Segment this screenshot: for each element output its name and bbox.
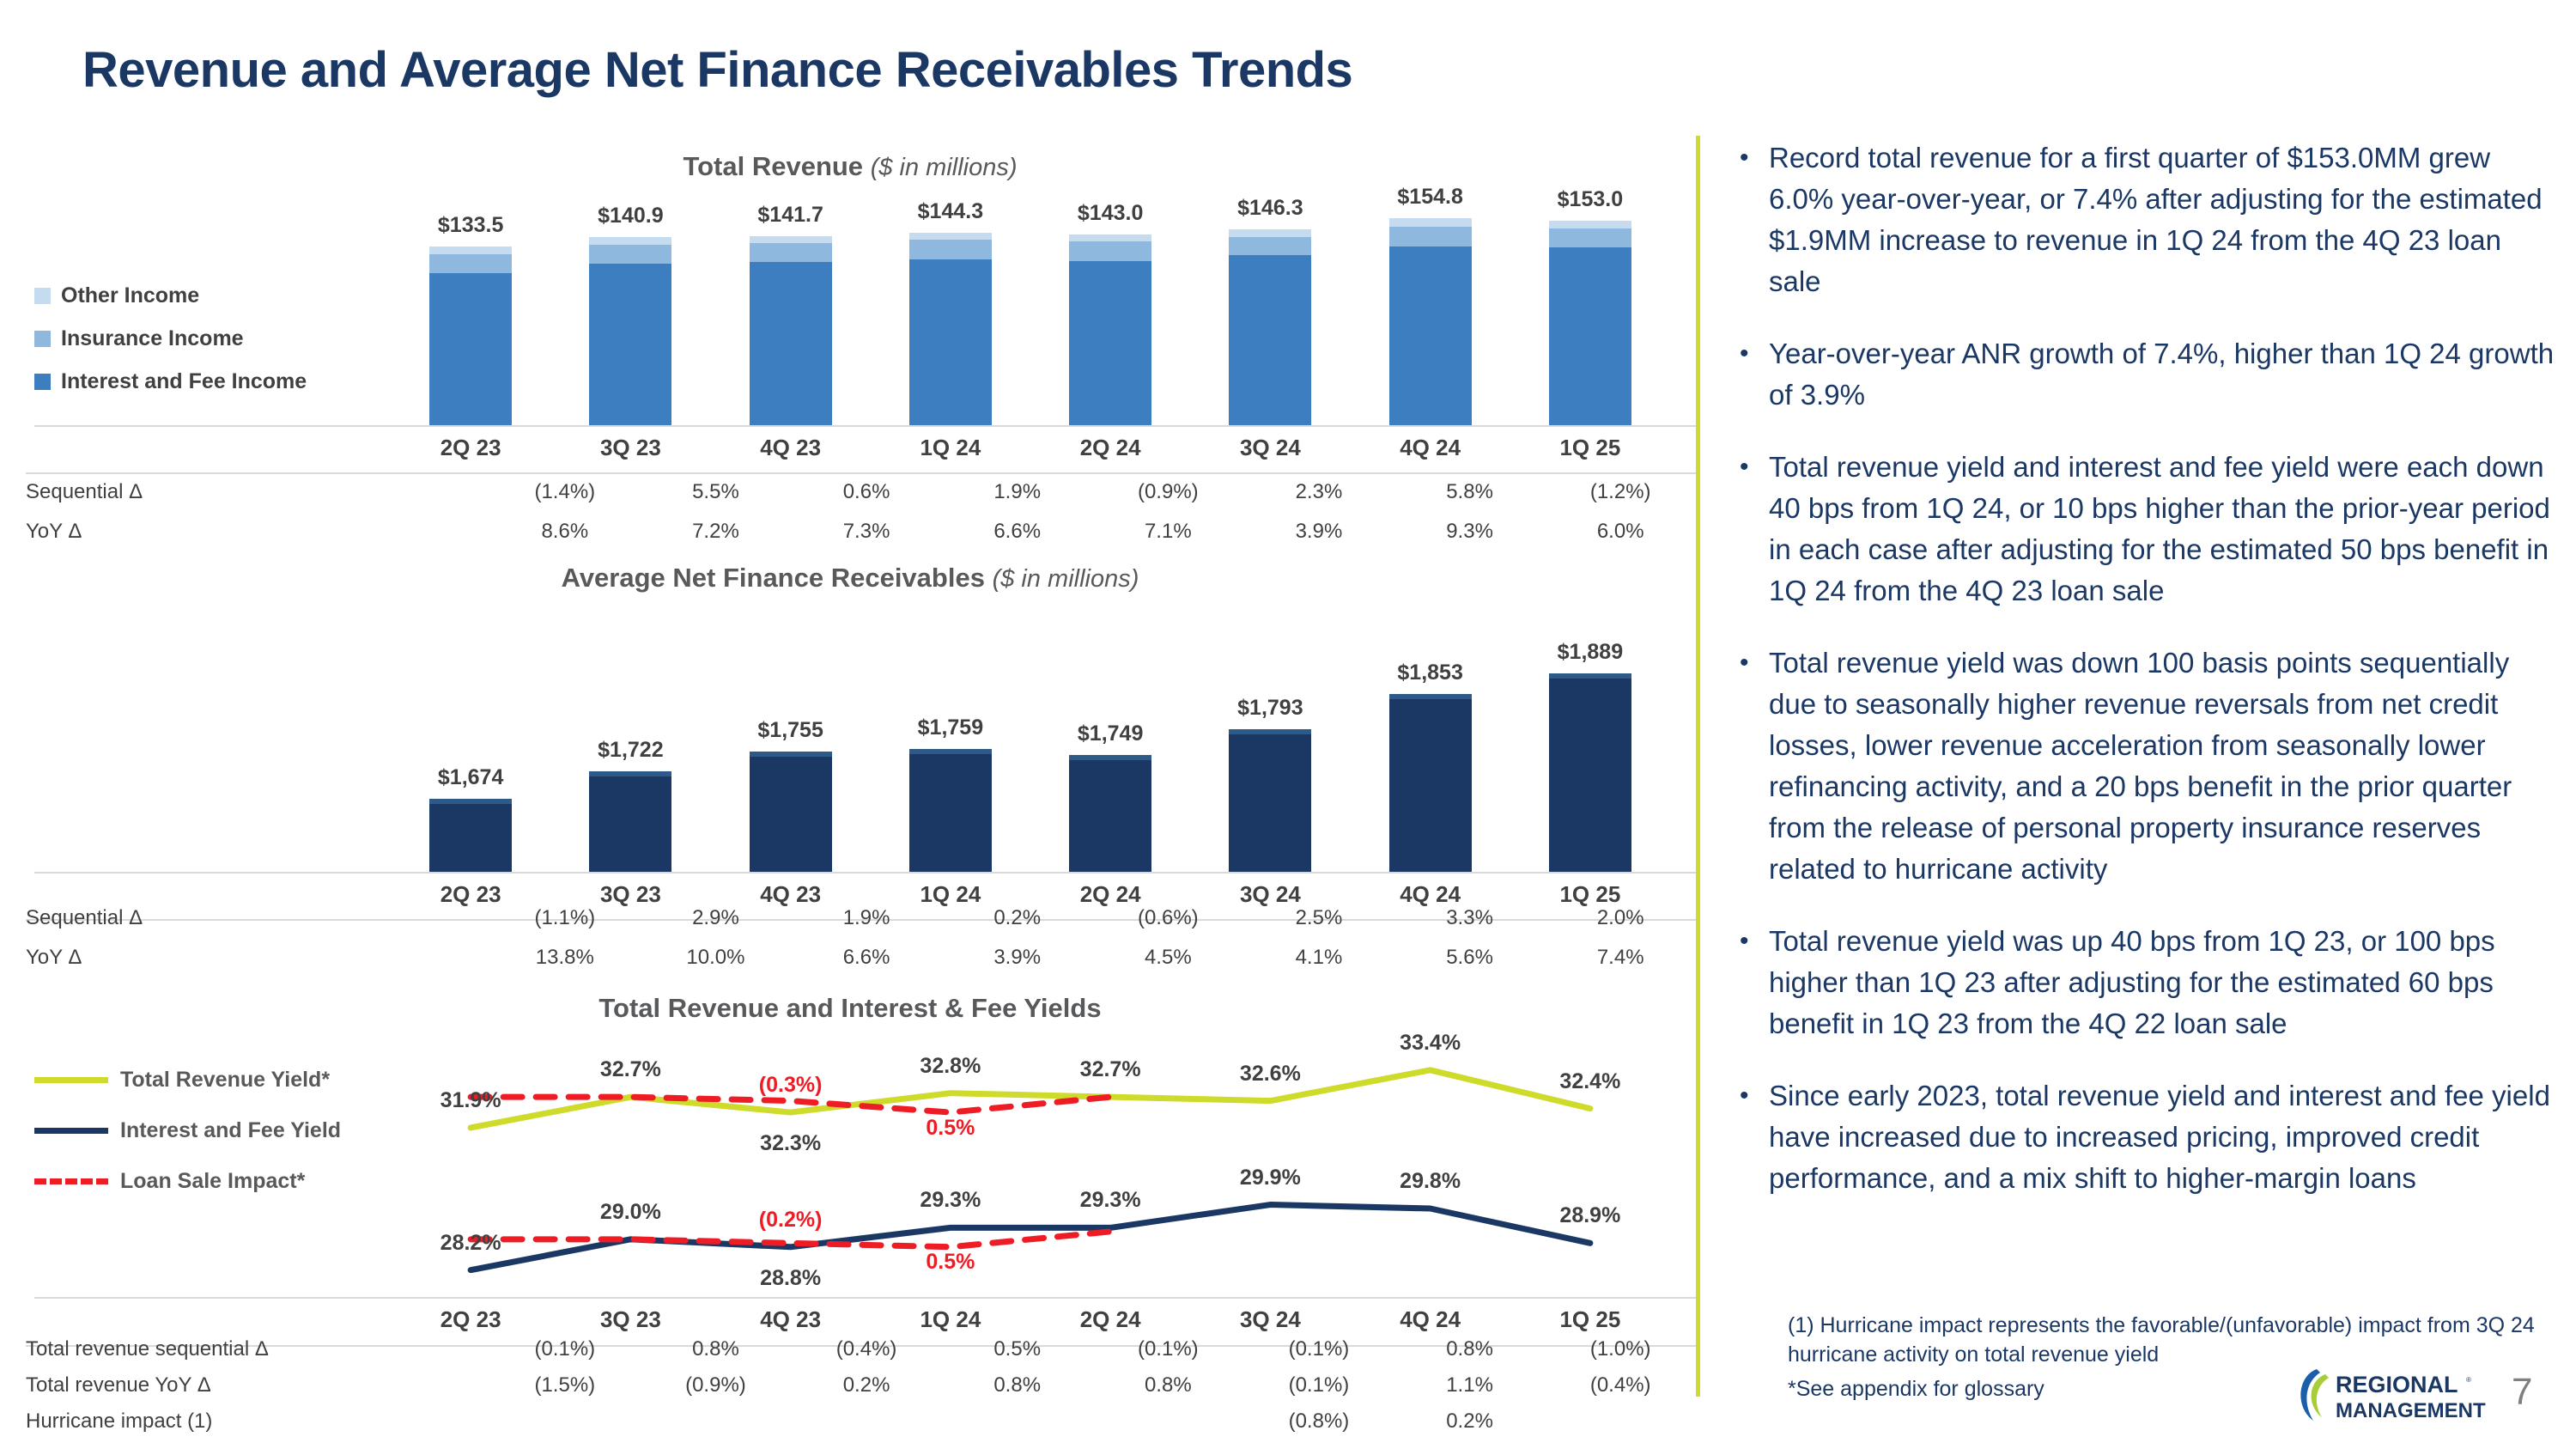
- table-cell: (0.6%): [1093, 906, 1244, 930]
- row-cells-sequential-delta-2: (1.1%)2.9%1.9%0.2%(0.6%)2.5%3.3%2.0%: [489, 906, 1696, 930]
- chart1-seq-row: Sequential Δ (1.4%)5.5%0.6%1.9%(0.9%)2.3…: [26, 474, 1696, 510]
- table-cell: 7.2%: [641, 520, 792, 544]
- stacked-bar: [1069, 234, 1151, 425]
- charts-column: Total Revenue ($ in millions) Other Inco…: [0, 0, 1696, 1449]
- segment-interest-fee-income: [589, 264, 671, 425]
- bar-column: $146.3: [1190, 185, 1350, 425]
- bar-body: [429, 804, 512, 872]
- table-cell: 3.3%: [1394, 906, 1546, 930]
- bullet-dot-icon: •: [1735, 447, 1769, 612]
- segment-other-income: [589, 237, 671, 245]
- svg-text:®: ®: [2466, 1376, 2471, 1384]
- bar-column: $1,889: [1510, 631, 1670, 872]
- commentary-list: •Record total revenue for a first quarte…: [1735, 137, 2559, 1230]
- bar-value-label: $153.0: [1504, 187, 1676, 212]
- legend-label-interest-fee-income: Interest and Fee Income: [61, 369, 307, 394]
- chart1-title-sub: ($ in millions): [871, 154, 1018, 181]
- table-cell: 0.8%: [942, 1373, 1093, 1397]
- category-label: 2Q 23: [391, 1306, 550, 1333]
- row-cells-sequential-delta: (1.4%)5.5%0.6%1.9%(0.9%)2.3%5.8%(1.2%): [489, 480, 1696, 504]
- segment-interest-fee-income: [750, 262, 832, 425]
- legend-label-insurance-income: Insurance Income: [61, 326, 244, 351]
- table-cell: (0.1%): [1093, 1337, 1244, 1361]
- table-cell: (0.1%): [1243, 1373, 1394, 1397]
- row-label-sequential-delta-2: Sequential Δ: [26, 906, 489, 930]
- point-value-label: 31.9%: [440, 1088, 501, 1113]
- bar: [750, 752, 832, 872]
- row-label-total-revenue-yoy: Total revenue YoY Δ: [26, 1373, 489, 1397]
- bar: [429, 799, 512, 872]
- legend-label-loan-sale-impact: Loan Sale Impact*: [120, 1169, 305, 1194]
- bar: [1549, 673, 1631, 873]
- stacked-bar: [1229, 229, 1311, 425]
- category-label: 3Q 23: [550, 435, 710, 461]
- table-cell: 8.6%: [489, 520, 641, 544]
- bar: [1389, 694, 1472, 872]
- chart2-bars: $1,674$1,722$1,755$1,759$1,749$1,793$1,8…: [391, 631, 1670, 872]
- row-label-sequential-delta: Sequential Δ: [26, 480, 489, 504]
- bar-value-label: $144.3: [865, 199, 1036, 224]
- segment-other-income: [1069, 234, 1151, 242]
- table-cell: 4.1%: [1243, 946, 1394, 970]
- chart3-categories: 2Q 233Q 234Q 231Q 242Q 243Q 244Q 241Q 25: [391, 1306, 1670, 1333]
- row-cells-yoy-delta: 8.6%7.2%7.3%6.6%7.1%3.9%9.3%6.0%: [489, 520, 1696, 544]
- bar-value-label: $1,722: [544, 738, 716, 763]
- category-label: 2Q 23: [391, 435, 550, 461]
- stacked-bar: [909, 233, 992, 425]
- point-value-label: 32.7%: [1080, 1057, 1141, 1082]
- table-cell: (0.1%): [489, 1337, 641, 1361]
- table-cell: 1.9%: [791, 906, 942, 930]
- table-cell: 5.8%: [1394, 480, 1546, 504]
- table-cell: 7.1%: [1093, 520, 1244, 544]
- legend-swatch-other-income-icon: [34, 288, 51, 304]
- stacked-bar: [429, 247, 512, 425]
- table-cell: (1.0%): [1545, 1337, 1696, 1361]
- bar-column: $154.8: [1351, 185, 1510, 425]
- legend-label-interest-fee-yield: Interest and Fee Yield: [120, 1118, 341, 1143]
- bar-value-label: $143.0: [1024, 201, 1196, 226]
- segment-other-income: [1229, 229, 1311, 236]
- chart3-title: Total Revenue and Interest & Fee Yields: [34, 993, 1666, 1024]
- point-value-label: 29.9%: [1240, 1166, 1301, 1190]
- segment-insurance-income: [1389, 227, 1472, 247]
- point-value-label: 32.7%: [600, 1057, 661, 1082]
- table-cell: 2.9%: [641, 906, 792, 930]
- bar-column: $1,853: [1351, 631, 1510, 872]
- point-value-label: 28.2%: [440, 1231, 501, 1256]
- table-cell: 13.8%: [489, 946, 641, 970]
- table-cell: [942, 1409, 1093, 1434]
- table-cell: (1.4%): [489, 480, 641, 504]
- bar-value-label: $1,889: [1504, 640, 1676, 665]
- category-label: 1Q 25: [1510, 1306, 1670, 1333]
- category-label: 1Q 25: [1510, 435, 1670, 461]
- bar-column: $141.7: [711, 185, 871, 425]
- commentary-bullet: •Total revenue yield was up 40 bps from …: [1735, 921, 2559, 1044]
- legend-label-total-revenue-yield: Total Revenue Yield*: [120, 1068, 330, 1093]
- row-label-hurricane-impact: Hurricane impact (1): [26, 1409, 489, 1434]
- segment-interest-fee-income: [909, 259, 992, 425]
- legend-line-total-revenue-yield-icon: [34, 1077, 108, 1083]
- row-cells-yoy-delta-2: 13.8%10.0%6.6%3.9%4.5%4.1%5.6%7.4%: [489, 946, 1696, 970]
- commentary-bullet: •Total revenue yield and interest and fe…: [1735, 447, 2559, 612]
- chart3-yoy-row: Total revenue YoY Δ (1.5%)(0.9%)0.2%0.8%…: [26, 1367, 1696, 1403]
- point-value-label: 32.6%: [1240, 1062, 1301, 1087]
- segment-interest-fee-income: [1229, 255, 1311, 425]
- bullet-dot-icon: •: [1735, 137, 1769, 302]
- bar-column: $140.9: [550, 185, 710, 425]
- bar-body: [1549, 679, 1631, 873]
- table-cell: (0.9%): [1093, 480, 1244, 504]
- stacked-bar: [750, 236, 832, 425]
- category-label: 3Q 24: [1190, 435, 1350, 461]
- table-cell: (0.4%): [791, 1337, 942, 1361]
- category-label: 4Q 24: [1351, 435, 1510, 461]
- category-label: 2Q 24: [1030, 435, 1190, 461]
- commentary-bullet: •Record total revenue for a first quarte…: [1735, 137, 2559, 302]
- stacked-bar: [1389, 218, 1472, 425]
- legend-line-interest-fee-yield-icon: [34, 1128, 108, 1134]
- table-cell: [489, 1409, 641, 1434]
- bullet-text: Total revenue yield was down 100 basis p…: [1769, 642, 2559, 890]
- bullet-text: Since early 2023, total revenue yield an…: [1769, 1075, 2559, 1199]
- bar-value-label: $1,793: [1184, 696, 1356, 721]
- bar-value-label: $141.7: [705, 203, 877, 228]
- segment-interest-fee-income: [429, 273, 512, 425]
- category-label: 4Q 23: [711, 435, 871, 461]
- bar-value-label: $1,759: [865, 715, 1036, 740]
- segment-other-income: [1389, 218, 1472, 227]
- bar-body: [1069, 760, 1151, 872]
- table-cell: [641, 1409, 792, 1434]
- bar: [1069, 755, 1151, 872]
- legend-swatch-interest-fee-income-icon: [34, 374, 51, 390]
- bar-column: $153.0: [1510, 185, 1670, 425]
- bar-body: [589, 776, 671, 872]
- table-cell: (0.9%): [641, 1373, 792, 1397]
- table-cell: 3.9%: [942, 946, 1093, 970]
- chart3-seq-row: Total revenue sequential Δ (0.1%)0.8%(0.…: [26, 1331, 1696, 1367]
- category-label: 2Q 24: [1030, 1306, 1190, 1333]
- legend-line-loan-sale-impact-icon: [34, 1178, 108, 1184]
- table-cell: 0.2%: [791, 1373, 942, 1397]
- table-cell: (1.1%): [489, 906, 641, 930]
- table-cell: 0.2%: [1394, 1409, 1546, 1434]
- legend-item-interest-fee-yield: Interest and Fee Yield: [34, 1118, 341, 1143]
- bar-body: [1389, 699, 1472, 872]
- regional-management-logo-icon: REGIONAL ® MANAGEMENT: [2291, 1364, 2488, 1428]
- category-label: 4Q 24: [1351, 1306, 1510, 1333]
- table-cell: 7.4%: [1545, 946, 1696, 970]
- segment-other-income: [1549, 221, 1631, 228]
- bar-column: $1,674: [391, 631, 550, 872]
- bar-body: [909, 754, 992, 872]
- bullet-text: Record total revenue for a first quarter…: [1769, 137, 2559, 302]
- chart2-title-sub: ($ in millions): [993, 565, 1139, 593]
- bullet-dot-icon: •: [1735, 642, 1769, 890]
- table-cell: (1.2%): [1545, 480, 1696, 504]
- legend-item-total-revenue-yield: Total Revenue Yield*: [34, 1068, 341, 1093]
- table-cell: 2.5%: [1243, 906, 1394, 930]
- loan-sale-annotation: (0.2%): [759, 1208, 823, 1233]
- table-cell: 6.6%: [942, 520, 1093, 544]
- segment-insurance-income: [429, 254, 512, 273]
- bar-column: $133.5: [391, 185, 550, 425]
- page-number: 7: [2512, 1371, 2532, 1414]
- segment-insurance-income: [1229, 237, 1311, 255]
- table-cell: 10.0%: [641, 946, 792, 970]
- point-value-label: 29.8%: [1400, 1169, 1461, 1194]
- bullet-dot-icon: •: [1735, 921, 1769, 1044]
- chart2-title: Average Net Finance Receivables ($ in mi…: [34, 563, 1666, 594]
- point-value-label: 28.8%: [760, 1266, 821, 1291]
- point-value-label: 29.3%: [1080, 1188, 1141, 1213]
- slide: Revenue and Average Net Finance Receivab…: [0, 0, 2576, 1449]
- loan-sale-annotation: (0.3%): [759, 1073, 823, 1098]
- chart2-yoy-row: YoY Δ 13.8%10.0%6.6%3.9%4.5%4.1%5.6%7.4%: [26, 940, 1696, 976]
- table-cell: 0.5%: [942, 1337, 1093, 1361]
- point-value-label: 32.4%: [1559, 1069, 1620, 1094]
- chart3-title-main: Total Revenue and Interest & Fee Yields: [598, 993, 1101, 1023]
- table-cell: [1093, 1409, 1244, 1434]
- segment-other-income: [429, 247, 512, 254]
- table-cell: (1.5%): [489, 1373, 641, 1397]
- bar-column: $1,793: [1190, 631, 1350, 872]
- segment-interest-fee-income: [1389, 247, 1472, 425]
- bar-column: $143.0: [1030, 185, 1190, 425]
- segment-interest-fee-income: [1549, 247, 1631, 425]
- table-cell: 9.3%: [1394, 520, 1546, 544]
- legend-item-loan-sale-impact: Loan Sale Impact*: [34, 1169, 341, 1194]
- bullet-text: Total revenue yield and interest and fee…: [1769, 447, 2559, 612]
- table-cell: 0.8%: [1093, 1373, 1244, 1397]
- segment-other-income: [750, 236, 832, 244]
- table-cell: 5.5%: [641, 480, 792, 504]
- segment-insurance-income: [1549, 228, 1631, 247]
- segment-insurance-income: [750, 243, 832, 262]
- table-cell: 0.8%: [641, 1337, 792, 1361]
- table-cell: 7.3%: [791, 520, 942, 544]
- legend-label-other-income: Other Income: [61, 283, 199, 308]
- table-cell: [791, 1409, 942, 1434]
- table-cell: 6.0%: [1545, 520, 1696, 544]
- segment-interest-fee-income: [1069, 261, 1151, 425]
- category-label: 3Q 24: [1190, 1306, 1350, 1333]
- bar-value-label: $154.8: [1345, 185, 1516, 210]
- loan-sale-annotation: 0.5%: [926, 1116, 975, 1141]
- table-cell: 2.3%: [1243, 480, 1394, 504]
- legend-item-other-income: Other Income: [34, 283, 307, 308]
- bar-body: [1229, 734, 1311, 872]
- category-label: 3Q 23: [550, 1306, 710, 1333]
- stacked-bar: [1549, 221, 1631, 425]
- table-cell: 5.6%: [1394, 946, 1546, 970]
- bar-body: [750, 757, 832, 872]
- bar-column: $1,759: [871, 631, 1030, 872]
- loan-sale-annotation: 0.5%: [926, 1250, 975, 1275]
- bar-value-label: $1,674: [385, 765, 556, 790]
- table-cell: (0.4%): [1545, 1373, 1696, 1397]
- chart3-legend: Total Revenue Yield* Interest and Fee Yi…: [34, 1068, 341, 1220]
- bar-column: $144.3: [871, 185, 1030, 425]
- bullet-dot-icon: •: [1735, 333, 1769, 416]
- chart1-title: Total Revenue ($ in millions): [34, 151, 1666, 182]
- legend-item-interest-fee-income: Interest and Fee Income: [34, 369, 307, 394]
- table-cell: 3.9%: [1243, 520, 1394, 544]
- point-value-label: 33.4%: [1400, 1031, 1461, 1056]
- segment-insurance-income: [1069, 241, 1151, 260]
- table-cell: 0.6%: [791, 480, 942, 504]
- bar-column: $1,749: [1030, 631, 1190, 872]
- table-cell: (0.1%): [1243, 1337, 1394, 1361]
- point-value-label: 29.0%: [600, 1200, 661, 1225]
- bar: [1229, 729, 1311, 872]
- bullet-text: Total revenue yield was up 40 bps from 1…: [1769, 921, 2559, 1044]
- chart1-axis: [34, 425, 1696, 427]
- commentary-bullet: •Since early 2023, total revenue yield a…: [1735, 1075, 2559, 1199]
- legend-item-insurance-income: Insurance Income: [34, 326, 307, 351]
- category-label: 4Q 23: [711, 1306, 871, 1333]
- chart3-axis: [34, 1297, 1696, 1299]
- row-label-yoy-delta-2: YoY Δ: [26, 946, 489, 970]
- legend-swatch-insurance-income-icon: [34, 331, 51, 347]
- table-cell: 0.8%: [1394, 1337, 1546, 1361]
- row-cells-total-revenue-yoy: (1.5%)(0.9%)0.2%0.8%0.8%(0.1%)1.1%(0.4%): [489, 1373, 1696, 1397]
- yield-lines: [391, 1039, 1670, 1297]
- chart1-legend: Other Income Insurance Income Interest a…: [34, 283, 307, 412]
- bar-column: $1,722: [550, 631, 710, 872]
- bar: [589, 771, 671, 872]
- svg-text:REGIONAL: REGIONAL: [2336, 1372, 2458, 1397]
- segment-insurance-income: [589, 245, 671, 265]
- bar-value-label: $140.9: [544, 204, 716, 228]
- point-value-label: 28.9%: [1559, 1203, 1620, 1228]
- table-cell: [1545, 1409, 1696, 1434]
- chart2-seq-row: Sequential Δ (1.1%)2.9%1.9%0.2%(0.6%)2.5…: [26, 900, 1696, 936]
- bar-value-label: $133.5: [385, 213, 556, 238]
- row-cells-total-revenue-sequential: (0.1%)0.8%(0.4%)0.5%(0.1%)(0.1%)0.8%(1.0…: [489, 1337, 1696, 1361]
- chart3-hurricane-row: Hurricane impact (1) (0.8%)0.2%: [26, 1403, 1696, 1440]
- bar-value-label: $146.3: [1184, 196, 1356, 221]
- chart2-title-main: Average Net Finance Receivables: [562, 563, 985, 593]
- bar-value-label: $1,755: [705, 718, 877, 743]
- bar-value-label: $1,853: [1345, 661, 1516, 685]
- chart1-categories: 2Q 233Q 234Q 231Q 242Q 243Q 244Q 241Q 25: [391, 435, 1670, 461]
- row-label-total-revenue-sequential: Total revenue sequential Δ: [26, 1337, 489, 1361]
- table-cell: 0.2%: [942, 906, 1093, 930]
- vertical-divider: [1696, 136, 1700, 1397]
- chart1-title-main: Total Revenue: [683, 151, 863, 181]
- chart2-axis: [34, 872, 1696, 874]
- point-value-label: 29.3%: [920, 1188, 981, 1213]
- table-cell: 1.1%: [1394, 1373, 1546, 1397]
- table-cell: 4.5%: [1093, 946, 1244, 970]
- bullet-dot-icon: •: [1735, 1075, 1769, 1199]
- commentary-bullet: •Year-over-year ANR growth of 7.4%, high…: [1735, 333, 2559, 416]
- bar-column: $1,755: [711, 631, 871, 872]
- chart1-yoy-row: YoY Δ 8.6%7.2%7.3%6.6%7.1%3.9%9.3%6.0%: [26, 514, 1696, 550]
- segment-other-income: [909, 233, 992, 240]
- point-value-label: 32.3%: [760, 1131, 821, 1156]
- table-cell: 1.9%: [942, 480, 1093, 504]
- bullet-text: Year-over-year ANR growth of 7.4%, highe…: [1769, 333, 2559, 416]
- svg-text:MANAGEMENT: MANAGEMENT: [2336, 1399, 2486, 1422]
- footnote-hurricane: (1) Hurricane impact represents the favo…: [1788, 1311, 2561, 1369]
- bar-value-label: $1,749: [1024, 721, 1196, 746]
- table-cell: (0.8%): [1243, 1409, 1394, 1434]
- table-cell: 2.0%: [1545, 906, 1696, 930]
- row-cells-hurricane-impact: (0.8%)0.2%: [489, 1409, 1696, 1434]
- chart1-bars: $133.5$140.9$141.7$144.3$143.0$146.3$154…: [391, 185, 1670, 425]
- stacked-bar: [589, 237, 671, 425]
- point-value-label: 32.8%: [920, 1054, 981, 1079]
- table-cell: 6.6%: [791, 946, 942, 970]
- commentary-bullet: •Total revenue yield was down 100 basis …: [1735, 642, 2559, 890]
- bar: [909, 749, 992, 872]
- category-label: 1Q 24: [871, 435, 1030, 461]
- row-label-yoy-delta: YoY Δ: [26, 520, 489, 544]
- chart3-plot: 31.9%32.7%32.3%32.8%32.7%32.6%33.4%32.4%…: [391, 1039, 1670, 1297]
- category-label: 1Q 24: [871, 1306, 1030, 1333]
- segment-insurance-income: [909, 240, 992, 259]
